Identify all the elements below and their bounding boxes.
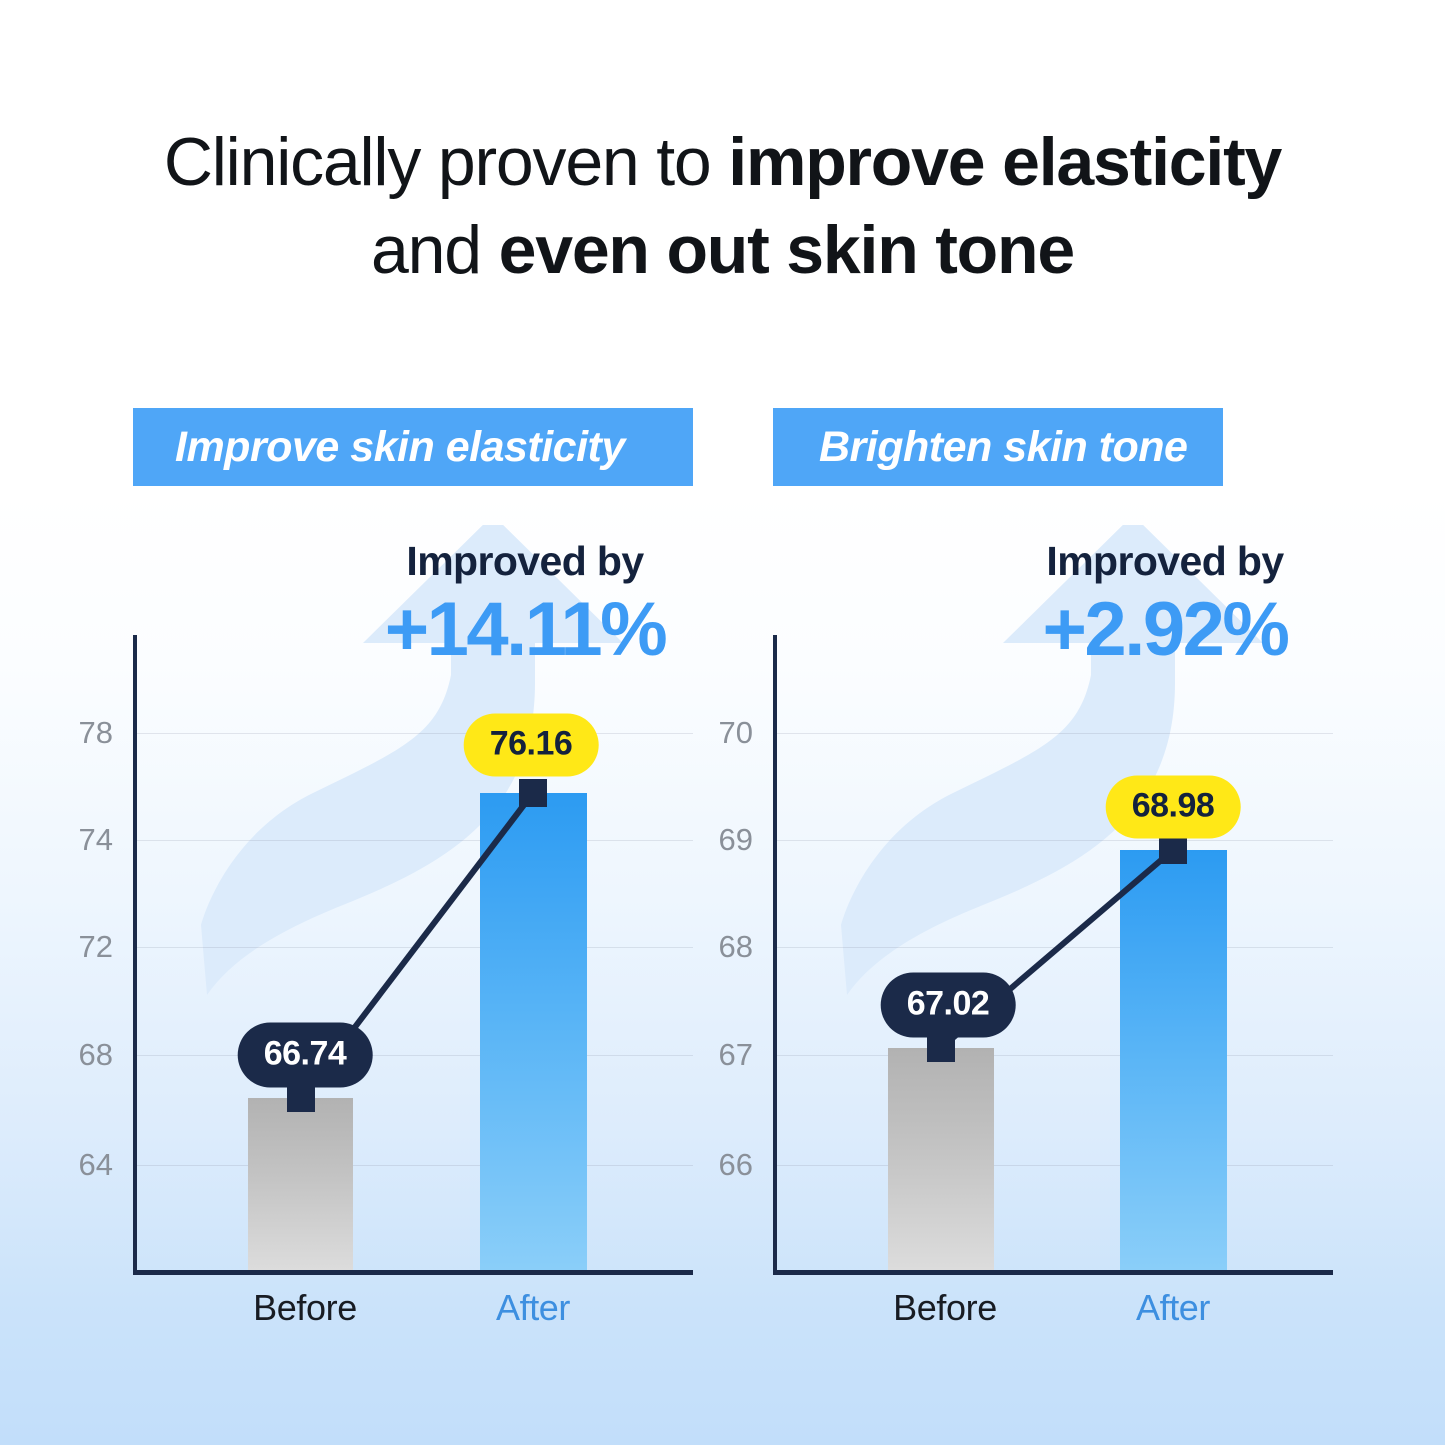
value-badge-before-skin-tone: 67.02	[881, 973, 1016, 1038]
chart-skin-tone: 67.02 68.98 70 69 68 67 66 Before After	[773, 635, 1333, 1275]
page-title: Clinically proven to improve elasticity …	[0, 118, 1445, 295]
improved-by-label: Improved by	[975, 540, 1355, 583]
plot-area-elasticity: 66.74 76.16	[133, 635, 693, 1275]
x-tick-label-after: After	[1136, 1287, 1210, 1329]
value-badge-after-skin-tone: 68.98	[1106, 776, 1241, 839]
y-tick-label: 64	[23, 1147, 113, 1183]
chart-elasticity: 66.74 76.16 78 74 72 68 64 Before After	[133, 635, 693, 1275]
improved-by-label: Improved by	[335, 540, 715, 583]
data-point-marker-after	[519, 779, 547, 807]
y-tick-label: 68	[23, 1037, 113, 1073]
panel-elasticity: Improve skin elasticity	[133, 408, 693, 486]
data-point-marker-before	[927, 1034, 955, 1062]
y-tick-label: 74	[23, 822, 113, 858]
value-badge-after-elasticity: 76.16	[464, 714, 599, 777]
chart-title-banner-elasticity: Improve skin elasticity	[133, 408, 693, 486]
trend-line-elasticity	[133, 635, 693, 1275]
chart-title-banner-skin-tone: Brighten skin tone	[773, 408, 1223, 486]
x-tick-label-after: After	[496, 1287, 570, 1329]
trend-line-skin-tone	[773, 635, 1333, 1275]
headline-line-2-bold: even out skin tone	[499, 212, 1074, 288]
y-tick-label: 72	[23, 929, 113, 965]
headline-line-2-plain: and	[371, 212, 499, 288]
headline-line-1-bold: improve elasticity	[728, 124, 1281, 200]
data-point-marker-before	[287, 1084, 315, 1112]
data-point-marker-after	[1159, 836, 1187, 864]
y-axis-labels-elasticity: 78 74 72 68 64	[23, 635, 113, 1275]
y-tick-label: 78	[23, 715, 113, 751]
value-badge-before-elasticity: 66.74	[238, 1023, 373, 1088]
headline-line-1-plain: Clinically proven to	[164, 124, 728, 200]
plot-area-skin-tone: 67.02 68.98	[773, 635, 1333, 1275]
panel-skin-tone: Brighten skin tone	[773, 408, 1333, 486]
x-tick-label-before: Before	[253, 1287, 357, 1329]
x-tick-label-before: Before	[893, 1287, 997, 1329]
